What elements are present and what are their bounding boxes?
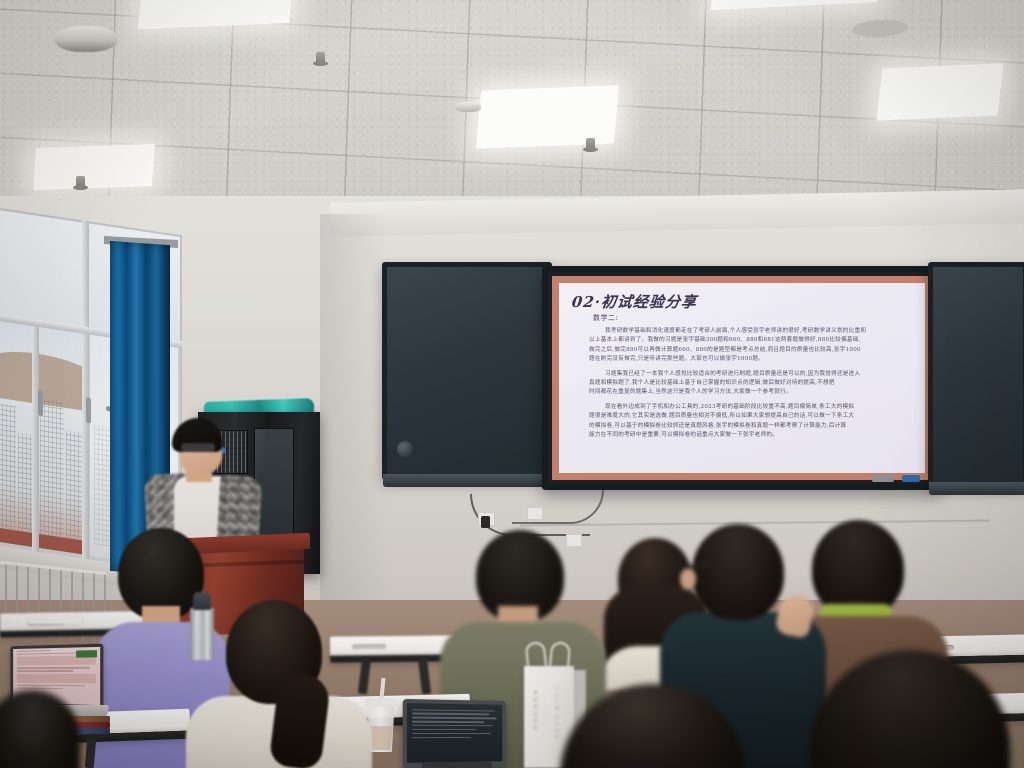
window-glass-city-view — [0, 318, 84, 554]
sprinkler-head-icon — [316, 52, 325, 66]
board-assembly: 02·初试经验分享 数学二: 我考研数学基础和消化速度都走在了考研人前面,个人感… — [382, 262, 1024, 494]
slide-line: 的模拟卷,可以基于的模拟卷比较抓还是真题风格,张宇的模拟卷和真题一样都考察了计算… — [589, 422, 909, 431]
student-head — [810, 650, 1010, 768]
student-ponytail-cream — [196, 600, 356, 768]
tablet-stand — [422, 762, 492, 768]
slide-body: 我考研数学基础和消化速度都走在了考研人前面,个人感受张宇老师讲的很好,考研数学讲… — [589, 327, 909, 445]
ceiling-light-panel — [33, 144, 154, 190]
screen-text-line — [17, 650, 50, 652]
slide-line: 习题集我已经了一本我个人感觉比较适合的考研进行刷题,题目质量还是可以的,因为我觉… — [589, 370, 909, 379]
screen-text-block — [17, 674, 96, 683]
window-handle[interactable] — [86, 397, 91, 424]
screen-text-line — [412, 709, 494, 712]
slide-line: 题很是难度大的,它其实是选做,题目质量也相对不偏低,所以如果大家想提高自己的话,… — [589, 412, 909, 421]
cup-lid[interactable] — [365, 698, 397, 707]
board-chalk-rail — [929, 482, 1024, 495]
screen-text-line — [412, 717, 496, 719]
display-control-button[interactable] — [872, 475, 894, 482]
screen-text-line — [17, 684, 84, 686]
bag-text-front: 考研复试资料 — [532, 690, 539, 732]
ceiling-speaker-icon — [54, 26, 118, 52]
student-head — [692, 524, 784, 620]
chalkboard-panel-left[interactable] — [382, 262, 552, 480]
screen-text-line — [412, 721, 484, 723]
slide-line: 我考研数学基础和消化速度都走在了考研人前面,个人感受张宇老师讲的很好,考研数学讲… — [589, 327, 909, 336]
smoke-detector-icon — [455, 102, 481, 112]
wall-socket-plate[interactable] — [527, 507, 543, 520]
front-row-head-right — [810, 650, 1010, 768]
classroom-photo: 02·初试经验分享 数学二: 我考研数学基础和消化速度都走在了考研人前面,个人感… — [0, 0, 1024, 768]
city-building — [0, 403, 16, 533]
student-head — [560, 684, 746, 768]
slide-line: 做完之后,做完880可以再做计算题660、880的是题型都是考点总结,而且题目的… — [589, 346, 909, 355]
screen-text-line — [17, 667, 90, 669]
ceiling-light-panel — [476, 85, 618, 148]
sprinkler-head-icon — [76, 176, 85, 190]
tablet[interactable] — [404, 700, 508, 768]
wall-shadow — [320, 214, 390, 624]
slide-line: 现在看外边成到了手机和办公工具的,2023考研的基础阶段比较重不高,题目偏简单,… — [589, 403, 909, 412]
slide-title: 02·初试经验分享 — [571, 291, 698, 312]
screen-accent-badge — [76, 650, 97, 658]
slide-paragraph: 我考研数学基础和消化速度都走在了考研人前面,个人感受张宇老师讲的很好,考研数学讲… — [589, 327, 909, 365]
tablet-frame — [403, 699, 506, 768]
front-row-head-left — [0, 690, 80, 768]
screen-text-line — [412, 737, 470, 738]
window-handle[interactable] — [38, 390, 43, 417]
glasses-icon — [181, 443, 215, 452]
front-row-head-center — [560, 684, 746, 768]
screen-text-line — [412, 713, 489, 715]
display-power-button[interactable] — [902, 475, 920, 482]
slide-line: 真题和模拟题了,我个人是比较基础上基于自己掌握的知识点的逻辑,做后做好对待的提高… — [589, 379, 909, 388]
sprinkler-head-icon — [586, 138, 595, 152]
screen-text-line — [412, 729, 475, 730]
board-chalk-rail — [383, 474, 561, 487]
slide-line: 题在刷完没有做完,只是听讲完那些题。大家也可以做张宇1000题。 — [589, 355, 909, 364]
screen-text-line — [412, 725, 493, 727]
interactive-display[interactable]: 02·初试经验分享 数学二: 我考研数学基础和消化速度都走在了考研人前面,个人感… — [542, 266, 942, 490]
chalkboard-panel-right[interactable] — [928, 262, 1024, 488]
slide-line: 时间都花在重复的题集上,当然这只是我个人的学习方法,大家做一个参考就行。 — [589, 388, 909, 397]
presentation-slide: 02·初试经验分享 数学二: 我考研数学基础和消化速度都走在了考研人前面,个人感… — [559, 283, 925, 473]
ceiling-light-panel — [877, 63, 1004, 120]
slide-paragraph: 现在看外边成到了手机和办公工具的,2023考研的基础阶段比较重不高,题目偏简单,… — [589, 403, 909, 441]
papers — [28, 614, 82, 624]
student-head — [0, 690, 80, 768]
slide-line: 以上基本上都讲到了。我做的习题是张宇基础300题和660、880和881这两套题… — [589, 336, 909, 345]
screen-text-line — [17, 670, 73, 672]
slide-paragraph: 习题集我已经了一本我个人感觉比较适合的考研进行刷题,题目质量还是可以的,因为我觉… — [589, 370, 909, 398]
wall-connector[interactable] — [481, 516, 490, 528]
screen-text-line — [17, 652, 79, 655]
tablet-screen[interactable] — [407, 703, 502, 763]
desk-handle-slot — [352, 644, 386, 649]
presentation-slide-frame: 02·初试经验分享 数学二: 我考研数学基础和消化速度都走在了考研人前面,个人感… — [552, 276, 932, 480]
slide-subtitle: 数学二: — [593, 313, 618, 323]
screen-text-line — [412, 733, 491, 734]
window-mullion — [32, 323, 39, 554]
window-mullion — [82, 220, 89, 561]
city-building — [40, 398, 64, 540]
board-logo-icon — [397, 441, 413, 457]
slide-line: 能力在不同的考研中是重要,可以模拟卷的话重点大家做一下张宇老师的。 — [589, 431, 909, 440]
student-ear — [680, 568, 696, 590]
